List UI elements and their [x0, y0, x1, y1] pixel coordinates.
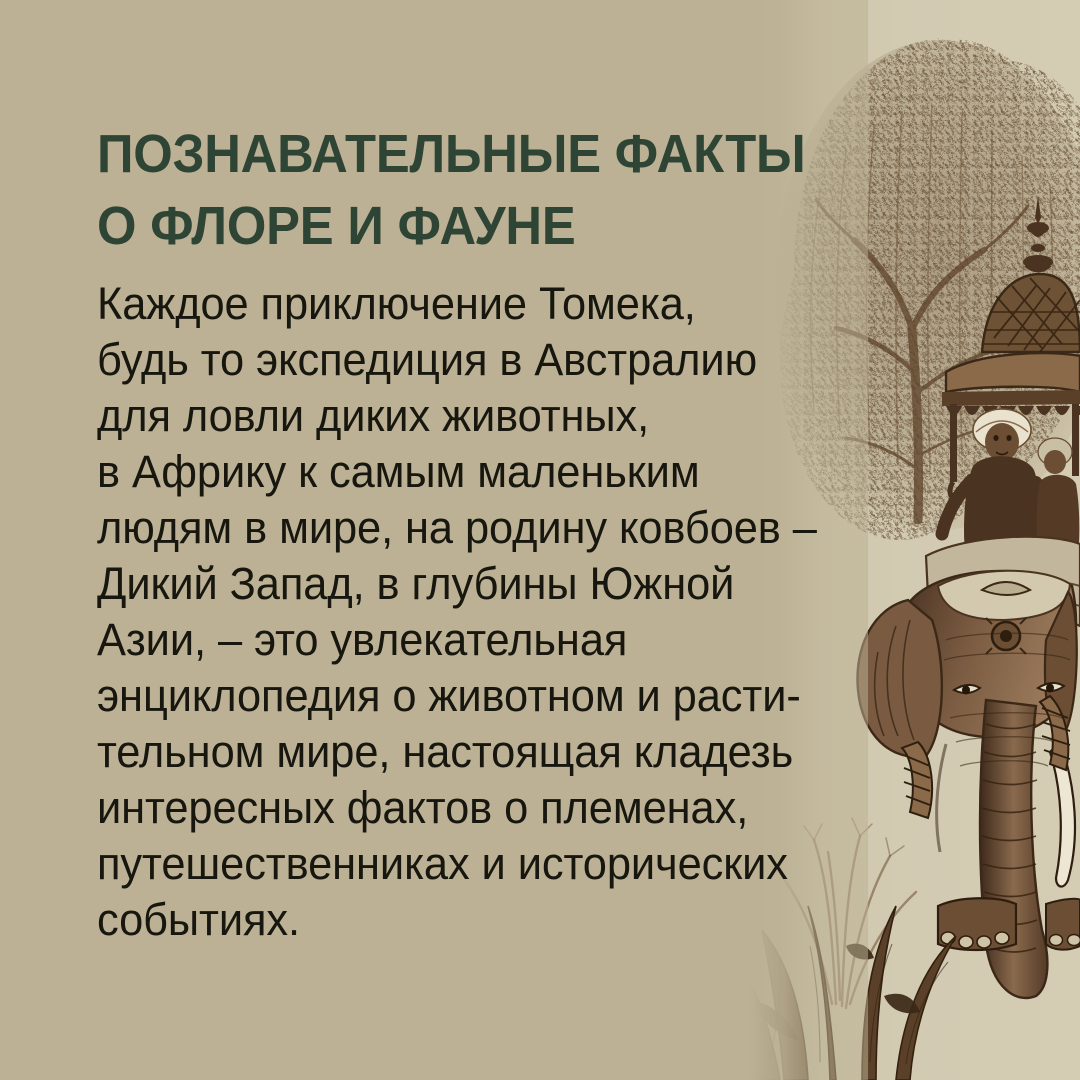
body-line-12: событиях. [97, 892, 763, 948]
body-line-5: людям в мире, на родину ковбоев – [97, 500, 763, 556]
text-column: ПОЗНАВАТЕЛЬНЫЕ ФАКТЫ О ФЛОРЕ И ФАУНЕ Каж… [97, 118, 787, 948]
body-line-10: интересных фактов о племенах, [97, 780, 763, 836]
body-paragraph: Каждое приключение Томека, будь то экспе… [97, 276, 763, 948]
poster-canvas: ПОЗНАВАТЕЛЬНЫЕ ФАКТЫ О ФЛОРЕ И ФАУНЕ Каж… [0, 0, 1080, 1080]
body-line-2: будь то экспедиция в Австралию [97, 332, 763, 388]
body-line-4: в Африку к самым маленьким [97, 444, 763, 500]
headline-line-2: О ФЛОРЕ И ФАУНЕ [97, 190, 746, 262]
page-title: ПОЗНАВАТЕЛЬНЫЕ ФАКТЫ О ФЛОРЕ И ФАУНЕ [97, 118, 746, 262]
elephant-feet [938, 898, 1080, 950]
body-line-9: тельном мире, настоящая кладезь [97, 724, 763, 780]
body-line-8: энциклопедия о животном и расти- [97, 668, 763, 724]
body-line-7: Азии, – это увлекательная [97, 612, 763, 668]
body-line-11: путешественниках и исторических [97, 836, 763, 892]
body-line-3: для ловли диких животных, [97, 388, 763, 444]
headline-line-1: ПОЗНАВАТЕЛЬНЫЕ ФАКТЫ [97, 118, 746, 190]
body-line-6: Дикий Запад, в глубины Южной [97, 556, 763, 612]
body-line-1: Каждое приключение Томека, [97, 276, 763, 332]
